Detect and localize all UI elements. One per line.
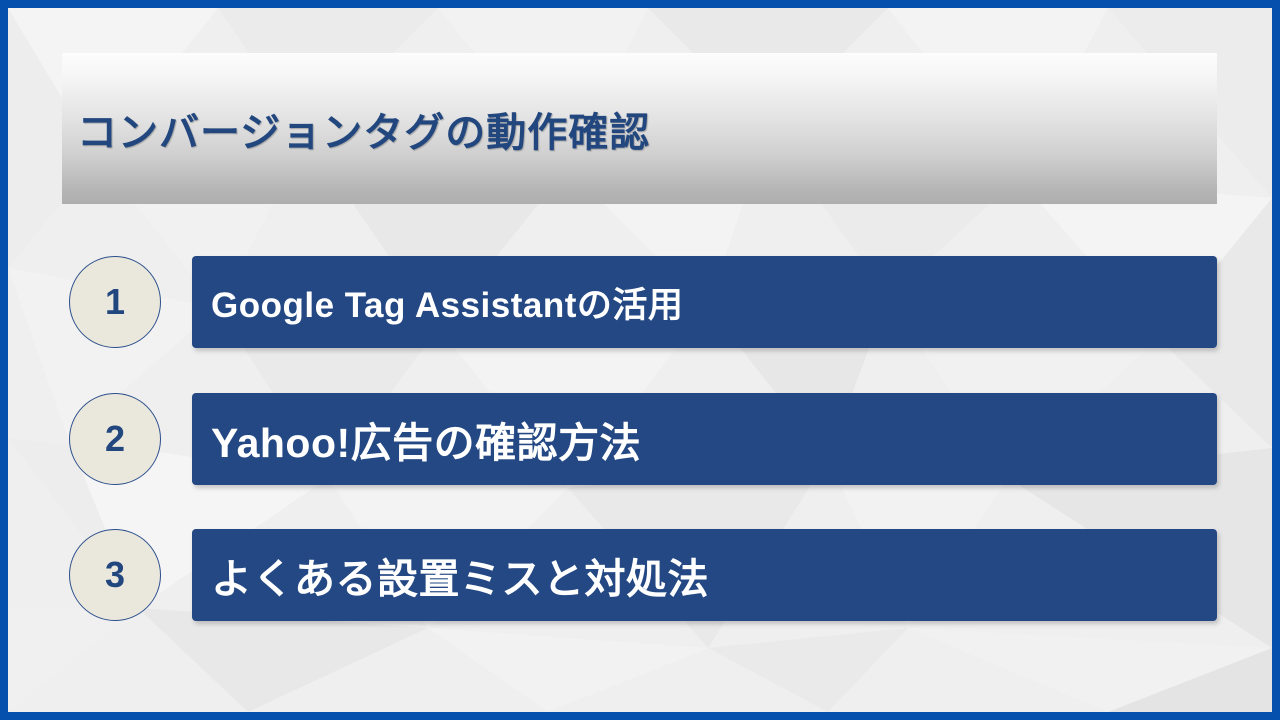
agenda-bar-2[interactable]: Yahoo!広告の確認方法 (192, 393, 1217, 485)
agenda-bar-1[interactable]: Google Tag Assistantの活用 (192, 256, 1217, 348)
agenda-bar-3[interactable]: よくある設置ミスと対処法 (192, 529, 1217, 621)
page-title: コンバージョンタグの動作確認 (77, 100, 650, 158)
slide-frame: コンバージョンタグの動作確認 1 Google Tag Assistantの活用… (0, 0, 1280, 720)
step-number-badge: 3 (69, 529, 161, 621)
list-item[interactable]: 3 よくある設置ミスと対処法 (8, 529, 1272, 621)
agenda-bar-label: よくある設置ミスと対処法 (211, 545, 709, 605)
list-item[interactable]: 1 Google Tag Assistantの活用 (8, 256, 1272, 348)
agenda-bar-label: Google Tag Assistantの活用 (211, 277, 683, 328)
slide-canvas: コンバージョンタグの動作確認 1 Google Tag Assistantの活用… (8, 8, 1272, 712)
list-item[interactable]: 2 Yahoo!広告の確認方法 (8, 393, 1272, 485)
agenda-bar-label: Yahoo!広告の確認方法 (211, 409, 641, 469)
step-number-badge: 2 (69, 393, 161, 485)
title-bar: コンバージョンタグの動作確認 (62, 53, 1217, 204)
step-number-badge: 1 (69, 256, 161, 348)
